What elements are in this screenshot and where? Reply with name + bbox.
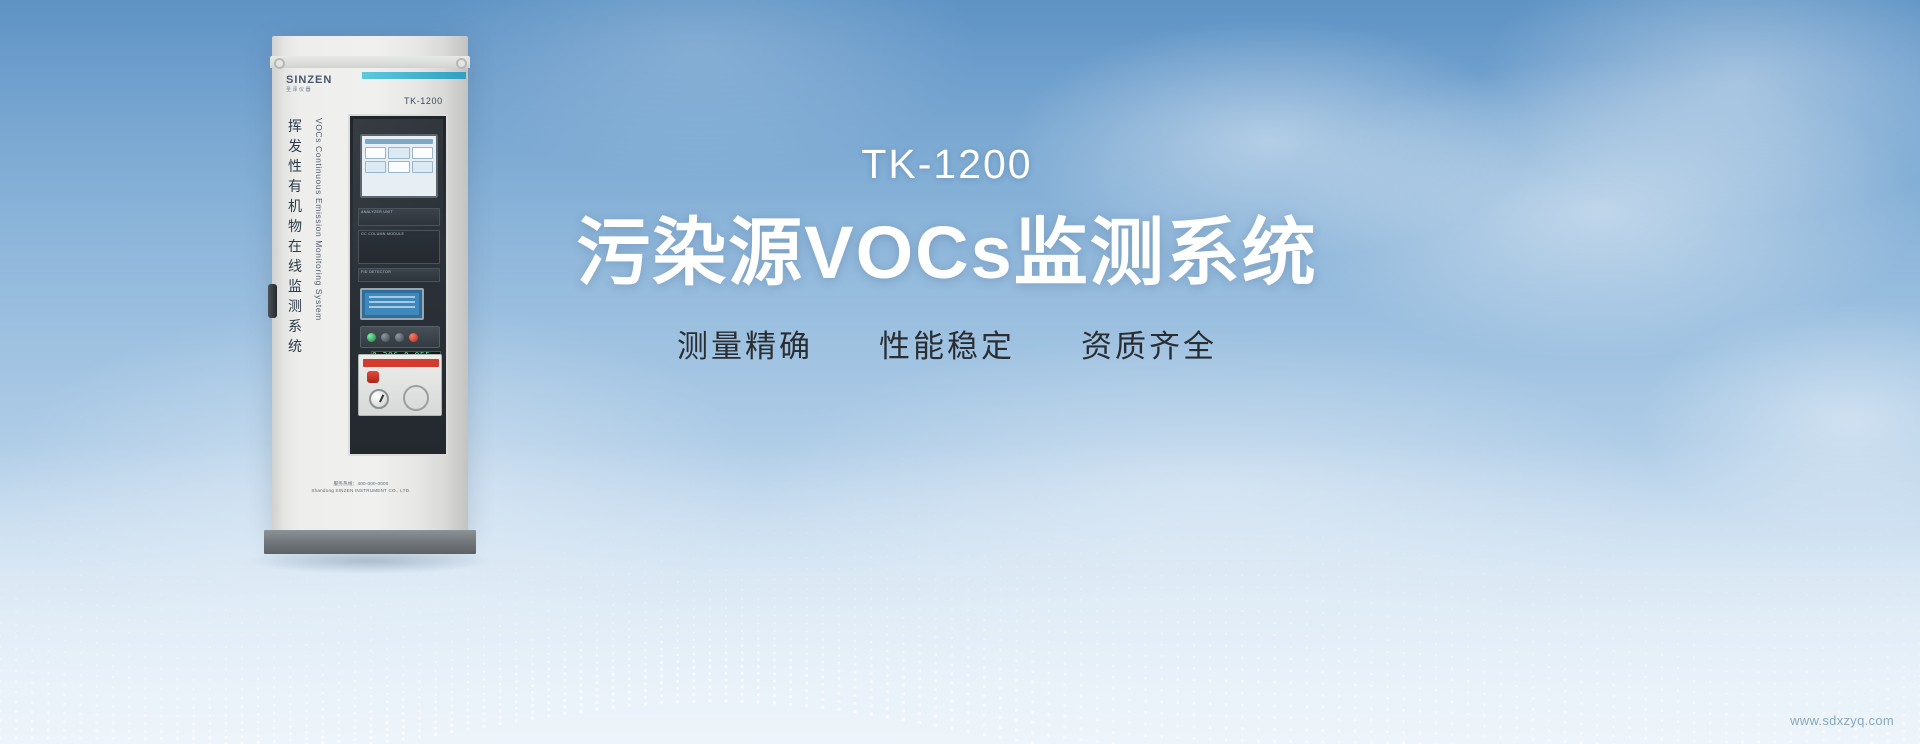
lower-service-panel xyxy=(358,354,442,416)
product-image-cabinet: SINZEN 圣泽仪器 TK-1200 挥 发 性 有 机 物 在 线 监 测 … xyxy=(262,28,478,552)
emergency-stop-button xyxy=(367,371,379,383)
lcd-inner xyxy=(365,293,419,315)
brand-plate: SINZEN 圣泽仪器 xyxy=(286,74,356,94)
page-title: 污染源VOCs监测系统 xyxy=(552,210,1342,296)
cabinet-top-cap xyxy=(270,56,470,68)
lcd-line xyxy=(369,301,415,303)
feature-item-1: 测量精确 xyxy=(677,328,813,366)
feature-item-2: 性能稳定 xyxy=(879,328,1015,366)
lifting-eye-icon xyxy=(456,58,467,69)
lcd-line xyxy=(369,306,415,308)
v-char: 在 xyxy=(284,236,306,256)
module-label: FID DETECTOR xyxy=(359,269,439,275)
analyzer-module: ANALYZER UNIT xyxy=(358,208,440,226)
hmi-cell xyxy=(365,147,386,159)
module-label: ANALYZER UNIT xyxy=(359,209,439,215)
cabinet-vertical-english-text: VOCs Continuous Emission Monitoring Syst… xyxy=(314,118,324,321)
lifting-eye-icon xyxy=(274,58,285,69)
v-char: 机 xyxy=(284,196,306,216)
v-char: 性 xyxy=(284,156,306,176)
status-led-green xyxy=(367,333,376,342)
gc-column-module: GC COLUMN MODULE 0.306 0.055 0.200 PPBv … xyxy=(358,230,440,264)
v-char: 线 xyxy=(284,256,306,276)
v-char: 发 xyxy=(284,136,306,156)
valve-knob xyxy=(403,385,429,411)
cabinet-footer-plate: 服务热线：400-000-0000 Shandong SINZEN INSTRU… xyxy=(286,480,436,494)
product-banner: SINZEN 圣泽仪器 TK-1200 挥 发 性 有 机 物 在 线 监 测 … xyxy=(0,0,1920,744)
cloud-decoration xyxy=(1640,300,1920,540)
hmi-cell xyxy=(412,147,433,159)
control-knob xyxy=(395,333,404,342)
v-char: 系 xyxy=(284,316,306,336)
feature-list: 测量精确 性能稳定 资质齐全 xyxy=(552,328,1342,366)
cabinet-model-plate: TK-1200 xyxy=(404,96,443,106)
brand-name-cn: 圣泽仪器 xyxy=(286,86,356,94)
status-led-red xyxy=(409,333,418,342)
cabinet-door-window: ANALYZER UNIT GC COLUMN MODULE 0.306 0.0… xyxy=(348,114,448,456)
lcd-line xyxy=(369,296,415,298)
model-label: TK-1200 xyxy=(552,140,1342,188)
v-char: 测 xyxy=(284,296,306,316)
footer-line-1: 服务热线：400-000-0000 xyxy=(286,480,436,487)
cabinet-base-plinth xyxy=(264,530,476,554)
v-char: 挥 xyxy=(284,116,306,136)
fid-detector-module: FID DETECTOR xyxy=(358,268,440,282)
hmi-titlebar xyxy=(365,139,433,144)
feature-item-3: 资质齐全 xyxy=(1081,328,1217,366)
hmi-touchscreen xyxy=(360,134,438,198)
cloud-decoration xyxy=(1480,0,1920,220)
v-char: 物 xyxy=(284,216,306,236)
footer-line-2: Shandong SINZEN INSTRUMENT CO., LTD. xyxy=(286,487,436,494)
cloud-decoration xyxy=(1280,60,1920,360)
hmi-cell xyxy=(365,161,386,173)
cabinet-vertical-chinese-text: 挥 发 性 有 机 物 在 线 监 测 系 统 xyxy=(284,116,306,356)
banner-copy-block: TK-1200 污染源VOCs监测系统 测量精确 性能稳定 资质齐全 xyxy=(552,140,1342,366)
warning-strip xyxy=(363,359,439,367)
v-char: 统 xyxy=(284,336,306,356)
hmi-cell xyxy=(388,147,409,159)
control-knob xyxy=(381,333,390,342)
hmi-readout-grid xyxy=(365,147,433,173)
accent-stripe xyxy=(362,72,466,79)
v-char: 监 xyxy=(284,276,306,296)
site-watermark: www.sdxzyq.com xyxy=(1790,713,1894,728)
hmi-cell xyxy=(412,161,433,173)
pressure-gauge xyxy=(369,389,389,409)
module-label: GC COLUMN MODULE xyxy=(359,231,439,237)
cloud-decoration xyxy=(760,330,1660,650)
hmi-cell xyxy=(388,161,409,173)
brand-name: SINZEN xyxy=(286,74,356,86)
door-handle xyxy=(268,284,277,318)
control-knob-panel xyxy=(360,326,440,348)
v-char: 有 xyxy=(284,176,306,196)
lcd-display xyxy=(360,288,424,320)
